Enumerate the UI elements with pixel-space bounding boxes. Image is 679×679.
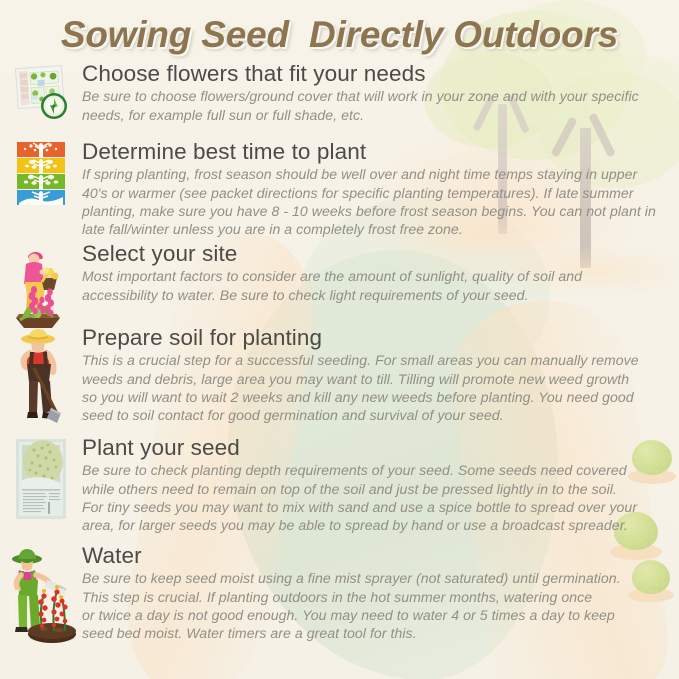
step-title: Determine best time to plant: [82, 140, 663, 164]
infographic-poster: Sowing Seed Directly Outdoors: [0, 0, 679, 679]
gardener-watering-flowers-icon: [2, 544, 80, 648]
step-body: If spring planting, frost season should …: [82, 165, 663, 238]
step-body: This is a crucial step for a successful …: [82, 351, 663, 424]
gardener-with-shovel-icon: [10, 326, 72, 426]
step-title: Prepare soil for planting: [82, 326, 663, 350]
step-body-line: If spring planting, frost season should …: [82, 165, 663, 183]
step-body-line: so you will want to wait 2 weeks and kil…: [82, 388, 663, 406]
step-body-line: 40's or warmer (see packet directions fo…: [82, 184, 663, 202]
step-body-line: Be sure to choose flowers/ground cover t…: [82, 87, 663, 105]
step-body-line: This step is crucial. If planting outdoo…: [82, 588, 663, 606]
step-body-line: while others need to remain on top of th…: [82, 480, 663, 498]
step-body-line: Be sure to keep seed moist using a fine …: [82, 569, 663, 587]
page-title: Sowing Seed Directly Outdoors: [0, 14, 679, 56]
step-icon-column: [0, 326, 82, 426]
step-title: Water: [82, 544, 663, 568]
garden-plan-map-icon: [11, 62, 71, 124]
step-body: Be sure to keep seed moist using a fine …: [82, 569, 663, 642]
step-item: Choose flowers that fit your needs Be su…: [0, 62, 679, 140]
step-body-line: This is a crucial step for a successful …: [82, 351, 663, 369]
step-icon-column: [0, 436, 82, 522]
step-body: Be sure to check planting depth requirem…: [82, 461, 663, 534]
step-icon-column: [0, 544, 82, 648]
step-body-line: Most important factors to consider are t…: [82, 267, 663, 285]
four-seasons-tree-icon: [13, 140, 69, 210]
step-icon-column: [0, 140, 82, 210]
steps-list: Choose flowers that fit your needs Be su…: [0, 62, 679, 654]
step-title: Select your site: [82, 242, 663, 266]
step-item: Select your site Most important factors …: [0, 242, 679, 326]
step-body-line: weeds and debris, large area you may wan…: [82, 370, 663, 388]
step-text-column: Choose flowers that fit your needs Be su…: [82, 62, 679, 124]
step-text-column: Prepare soil for planting This is a cruc…: [82, 326, 679, 425]
step-item: Water Be sure to keep seed moist using a…: [0, 544, 679, 654]
step-body-line: seed to soil contact for good germinatio…: [82, 406, 663, 424]
step-text-column: Water Be sure to keep seed moist using a…: [82, 544, 679, 643]
step-body-line: For tiny seeds you may want to mix with …: [82, 498, 663, 516]
step-body-line: Be sure to check planting depth requirem…: [82, 461, 663, 479]
step-icon-column: [0, 62, 82, 124]
step-item: Prepare soil for planting This is a cruc…: [0, 326, 679, 436]
seed-packet-icon: [12, 436, 70, 522]
step-icon-column: [0, 242, 82, 330]
step-body-line: late fall/winter unless you are in a com…: [82, 220, 663, 238]
step-title: Choose flowers that fit your needs: [82, 62, 663, 86]
step-body-line: planting, make sure you have 8 - 10 week…: [82, 202, 663, 220]
step-body-line: accessibility to water. Be sure to check…: [82, 286, 663, 304]
step-body-line: seed bed moist. Water timers are a great…: [82, 624, 663, 642]
step-body: Be sure to choose flowers/ground cover t…: [82, 87, 663, 124]
step-text-column: Plant your seed Be sure to check plantin…: [82, 436, 679, 535]
step-body-line: or twice a day is not good enough. You m…: [82, 606, 663, 624]
step-title: Plant your seed: [82, 436, 663, 460]
step-text-column: Select your site Most important factors …: [82, 242, 679, 304]
step-body: Most important factors to consider are t…: [82, 267, 663, 304]
step-text-column: Determine best time to plant If spring p…: [82, 140, 679, 239]
step-item: Determine best time to plant If spring p…: [0, 140, 679, 242]
step-body-line: needs, for example full sun or full shad…: [82, 106, 663, 124]
step-item: Plant your seed Be sure to check plantin…: [0, 436, 679, 544]
gardener-with-flower-planter-icon: [8, 242, 74, 330]
step-body-line: area, for larger seeds you may be able t…: [82, 516, 663, 534]
